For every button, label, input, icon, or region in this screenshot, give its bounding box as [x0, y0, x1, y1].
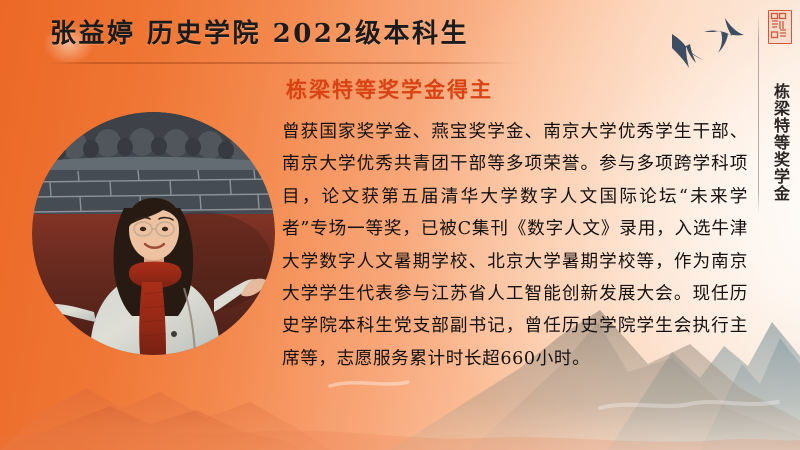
poster-canvas: 张益婷 历史学院 2022级本科生 — [0, 0, 800, 450]
header-divider — [46, 62, 520, 64]
award-title: 栋梁特等奖学金得主 — [286, 76, 493, 104]
portrait-photo — [32, 112, 275, 355]
page-title: 张益婷 历史学院 2022级本科生 — [50, 17, 469, 51]
flying-swallows-icon — [660, 8, 750, 86]
red-seal-stamp — [768, 10, 792, 44]
bio-paragraph: 曾获国家奖学金、燕宝奖学金、南京大学优秀学生干部、南京大学优秀共青团干部等多项荣… — [282, 116, 748, 375]
sidebar-vertical-label: 栋梁特等奖学金 — [768, 52, 792, 232]
bio-text: 曾获国家奖学金、燕宝奖学金、南京大学优秀学生干部、南京大学优秀共青团干部等多项荣… — [282, 116, 748, 375]
sidebar-divider — [758, 14, 759, 214]
